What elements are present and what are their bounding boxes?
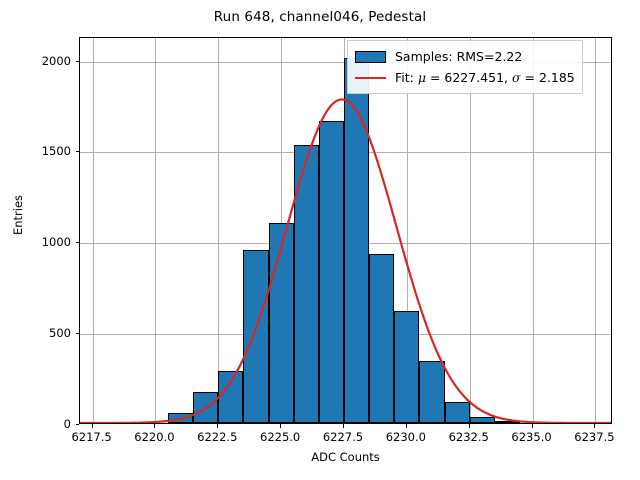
histogram-bar: [193, 392, 218, 423]
x-tick-label: 6225.0: [260, 430, 300, 444]
legend-fit-prefix: Fit:: [395, 70, 418, 85]
gridline-x-6220: [155, 38, 156, 423]
chart-legend: Samples: RMS=2.22 Fit: μ = 6227.451, σ =…: [347, 40, 583, 94]
legend-label-samples: Samples: RMS=2.22: [395, 49, 522, 64]
x-tick-label: 6235.0: [511, 430, 551, 444]
plot-area: [79, 37, 612, 424]
x-tick-mark: [469, 424, 470, 428]
histogram-bar: [269, 223, 294, 423]
y-tick-mark: [76, 61, 80, 62]
y-axis-label: Entries: [11, 125, 25, 305]
x-tick-mark: [280, 424, 281, 428]
x-tick-mark: [92, 424, 93, 428]
gridline-x-6237.5: [595, 38, 596, 423]
histogram-bar: [394, 311, 419, 423]
x-tick-label: 6237.5: [574, 430, 614, 444]
histogram-bar: [445, 402, 470, 423]
legend-item-samples: Samples: RMS=2.22: [355, 46, 575, 67]
legend-mu-symbol: μ: [418, 70, 426, 85]
y-tick-label: 0: [11, 417, 71, 431]
x-tick-mark: [532, 424, 533, 428]
x-tick-mark: [217, 424, 218, 428]
y-tick-mark: [76, 424, 80, 425]
histogram-bar: [344, 58, 369, 423]
x-tick-label: 6232.5: [449, 430, 489, 444]
histogram-bar: [243, 250, 268, 424]
histogram-bar: [495, 421, 520, 423]
chart-title: Run 648, channel046, Pedestal: [0, 9, 640, 25]
gridline-x-6232.5: [470, 38, 471, 423]
x-tick-mark: [154, 424, 155, 428]
histogram-bar: [218, 371, 243, 423]
gridline-x-6235: [533, 38, 534, 423]
x-tick-mark: [343, 424, 344, 428]
x-tick-label: 6230.0: [386, 430, 426, 444]
histogram-bar: [470, 417, 495, 423]
y-tick-mark: [76, 242, 80, 243]
histogram-bar: [168, 413, 193, 423]
histogram-bar: [294, 145, 319, 423]
gridline-x-6217.5: [93, 38, 94, 423]
x-tick-label: 6227.5: [323, 430, 363, 444]
figure-canvas: Run 648, channel046, Pedestal 6217.56220…: [0, 0, 640, 480]
x-tick-label: 6222.5: [197, 430, 237, 444]
legend-mu-value: = 6227.451,: [426, 70, 512, 85]
y-tick-mark: [76, 151, 80, 152]
y-tick-label: 2000: [11, 54, 71, 68]
legend-item-fit: Fit: μ = 6227.451, σ = 2.185: [355, 67, 575, 88]
y-tick-mark: [76, 333, 80, 334]
legend-label-fit: Fit: μ = 6227.451, σ = 2.185: [395, 70, 575, 85]
histogram-bar: [319, 121, 344, 423]
x-tick-mark: [594, 424, 595, 428]
legend-sigma-symbol: σ: [512, 70, 521, 85]
histogram-bar: [369, 254, 394, 423]
gridline-x-6222.5: [218, 38, 219, 423]
x-axis-label: ADC Counts: [79, 450, 612, 464]
x-tick-mark: [406, 424, 407, 428]
legend-sigma-value: = 2.185: [521, 70, 575, 85]
histogram-bar: [419, 361, 444, 423]
x-tick-label: 6220.0: [134, 430, 174, 444]
y-tick-label: 500: [11, 326, 71, 340]
x-tick-label: 6217.5: [71, 430, 111, 444]
legend-line-icon: [355, 77, 386, 79]
legend-patch-icon: [355, 51, 386, 63]
